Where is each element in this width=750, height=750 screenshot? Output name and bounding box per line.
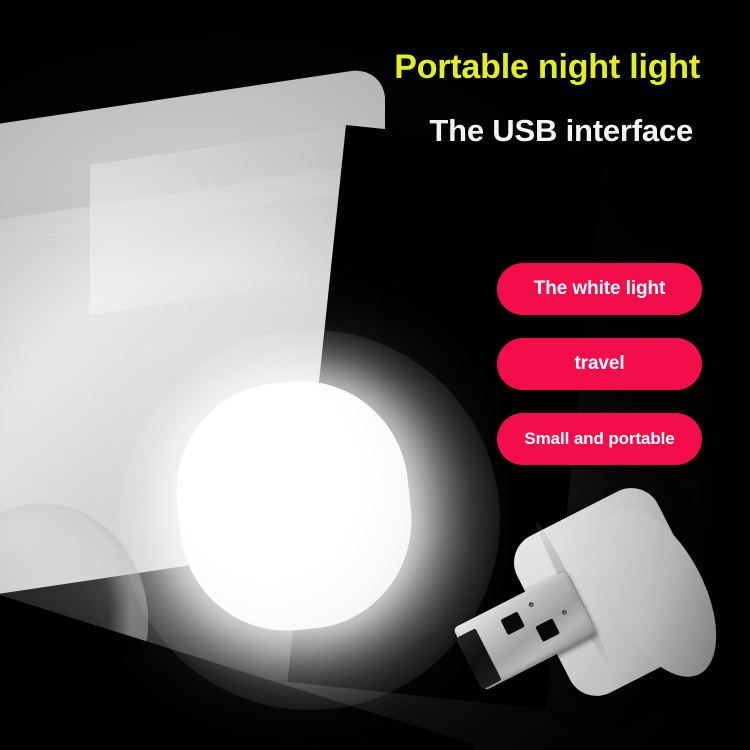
usb-night-light-product [440,480,740,740]
feature-pill-label: travel [574,353,624,375]
feature-pill-white-light[interactable]: The white light [497,263,702,315]
feature-pill-small-portable[interactable]: Small and portable [497,413,702,465]
feature-pill-travel[interactable]: travel [497,338,702,390]
page-subtitle: The USB interface [429,113,693,149]
product-advertisement-image: Portable night light The USB interface T… [0,0,750,750]
feature-pill-label: Small and portable [524,429,674,449]
page-title: Portable night light [394,48,700,87]
feature-pill-label: The white light [534,278,666,300]
feature-pill-list: The white light travel Small and portabl… [497,263,702,488]
